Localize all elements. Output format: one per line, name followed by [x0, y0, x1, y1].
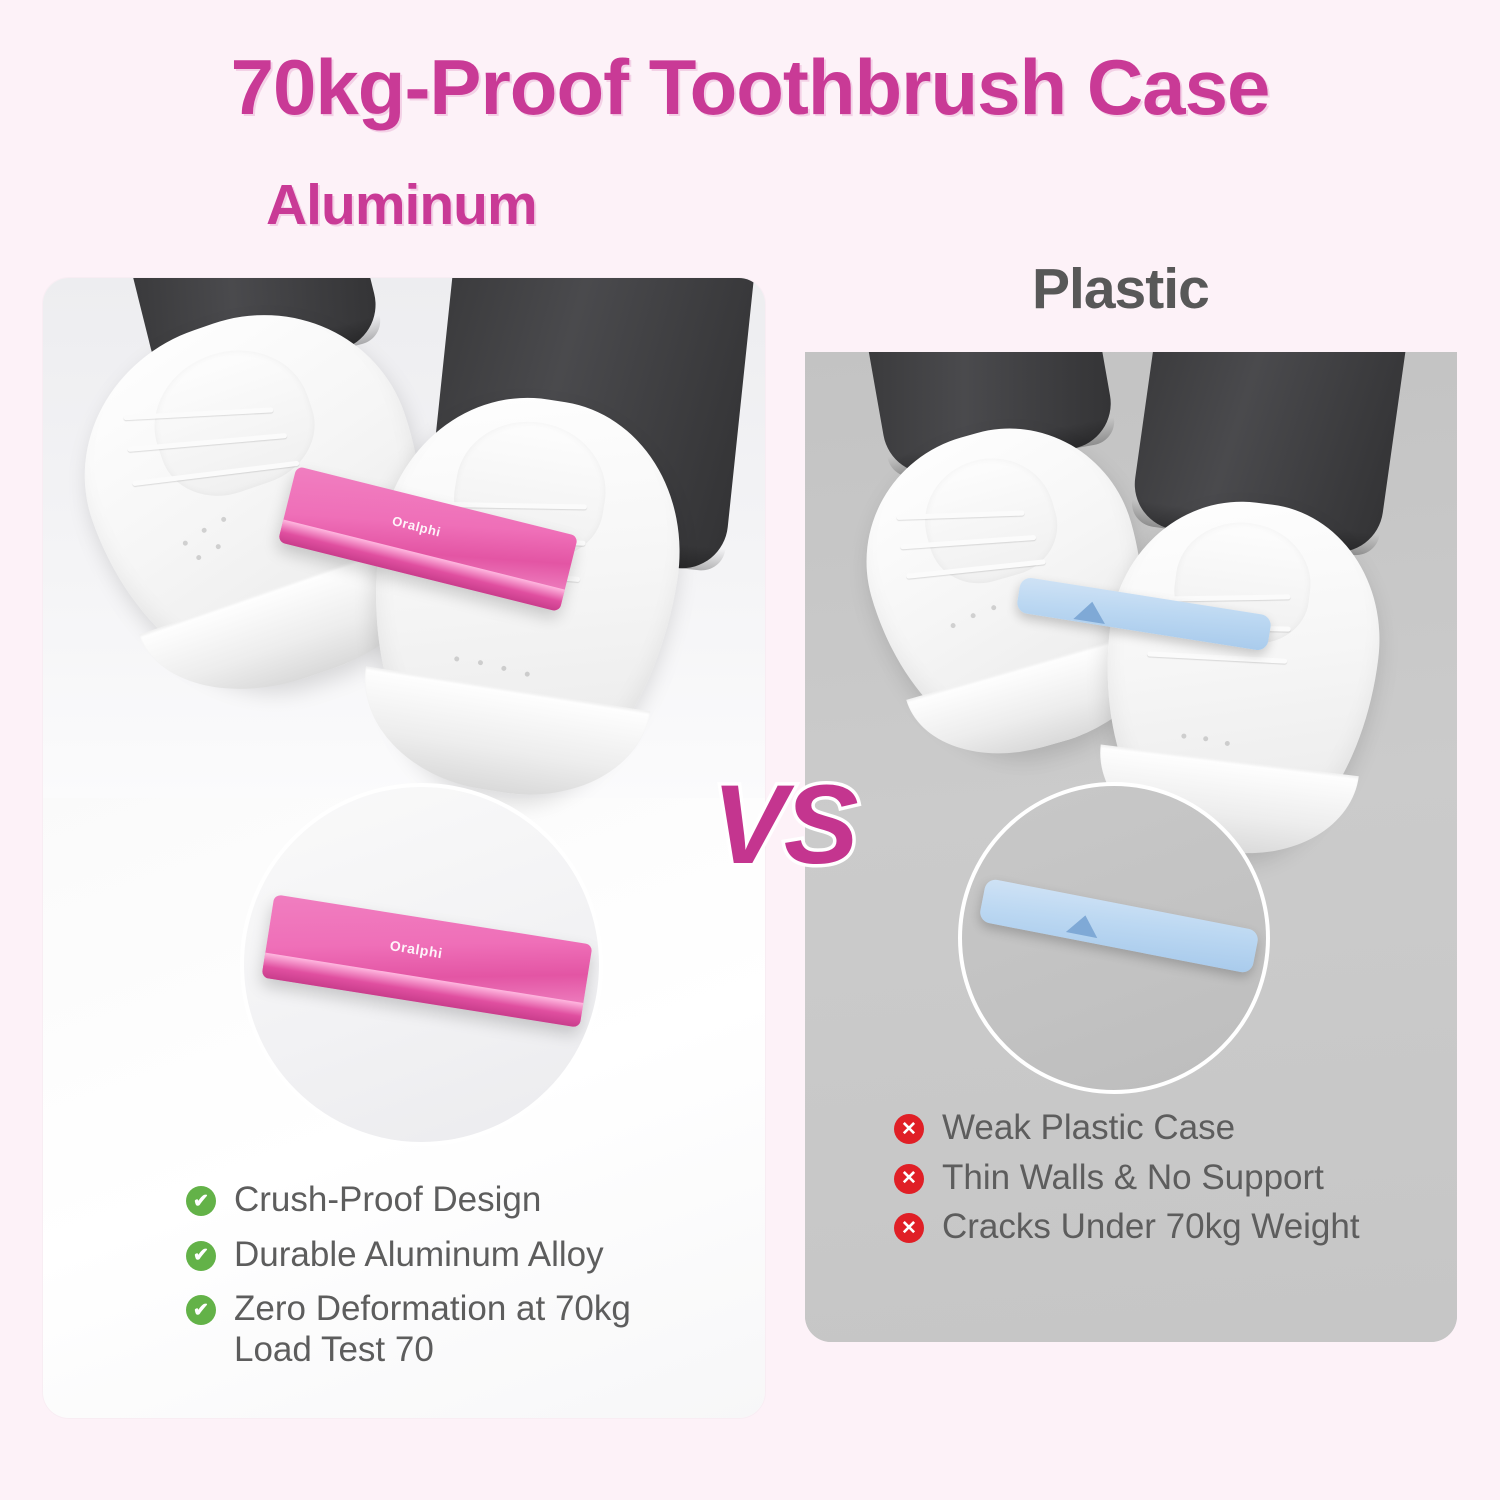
shoe-perforation: [1203, 736, 1209, 742]
cross-circle-icon: ✕: [894, 1114, 924, 1144]
shoe-perforation: [1181, 733, 1187, 739]
feature-label: Zero Deformation at 70kg Load Test 70: [234, 1289, 706, 1370]
shoe-perforation: [950, 622, 956, 628]
plastic-drawback-list: ✕ Weak Plastic Case ✕ Thin Walls & No Su…: [894, 1108, 1414, 1257]
aluminum-feature-list: ✔ Crush-Proof Design ✔ Durable Aluminum …: [186, 1180, 706, 1384]
shoe-perforation: [182, 540, 188, 546]
vs-badge: VS: [712, 760, 855, 889]
cross-circle-icon: ✕: [894, 1164, 924, 1194]
shoe-perforation: [501, 666, 507, 672]
shoe-perforation: [215, 543, 221, 549]
list-item: ✕ Cracks Under 70kg Weight: [894, 1207, 1414, 1248]
shoe-perforation: [970, 613, 976, 619]
shoe-lace: [1147, 651, 1287, 663]
shoe-perforation: [196, 554, 202, 560]
check-circle-icon: ✔: [186, 1295, 216, 1325]
aluminum-case-inset: Oralphi: [240, 783, 603, 1146]
drawback-label: Weak Plastic Case: [942, 1108, 1235, 1149]
plastic-case-closeup: [978, 878, 1259, 974]
shoe-perforation: [220, 516, 226, 522]
shoe-perforation: [454, 656, 460, 662]
heading-plastic: Plastic: [1032, 256, 1209, 322]
check-circle-icon: ✔: [186, 1186, 216, 1216]
list-item: ✔ Durable Aluminum Alloy: [186, 1235, 706, 1276]
crack-damage: [1073, 599, 1108, 624]
cross-circle-icon: ✕: [894, 1213, 924, 1243]
check-circle-icon: ✔: [186, 1241, 216, 1271]
feature-label: Durable Aluminum Alloy: [234, 1235, 604, 1276]
list-item: ✕ Weak Plastic Case: [894, 1108, 1414, 1149]
drawback-label: Cracks Under 70kg Weight: [942, 1207, 1360, 1248]
shoe-perforation: [201, 527, 207, 533]
product-brand-label: Oralphi: [391, 513, 443, 540]
crack-damage: [1066, 912, 1101, 938]
list-item: ✔ Zero Deformation at 70kg Load Test 70: [186, 1289, 706, 1370]
shoe-perforation: [478, 660, 484, 666]
shoe-perforation: [991, 605, 997, 611]
feature-label: Crush-Proof Design: [234, 1180, 541, 1221]
aluminum-case-closeup: Oralphi: [261, 894, 592, 1027]
list-item: ✕ Thin Walls & No Support: [894, 1158, 1414, 1199]
case-edge: [261, 952, 583, 1027]
page-title: 70kg-Proof Toothbrush Case: [0, 42, 1500, 133]
list-item: ✔ Crush-Proof Design: [186, 1180, 706, 1221]
shoe-perforation: [1225, 741, 1231, 747]
drawback-label: Thin Walls & No Support: [942, 1158, 1324, 1199]
plastic-case-inset: [958, 782, 1270, 1094]
shoe-perforation: [524, 671, 530, 677]
heading-aluminum: Aluminum: [266, 172, 537, 238]
product-brand-label-closeup: Oralphi: [389, 937, 444, 961]
